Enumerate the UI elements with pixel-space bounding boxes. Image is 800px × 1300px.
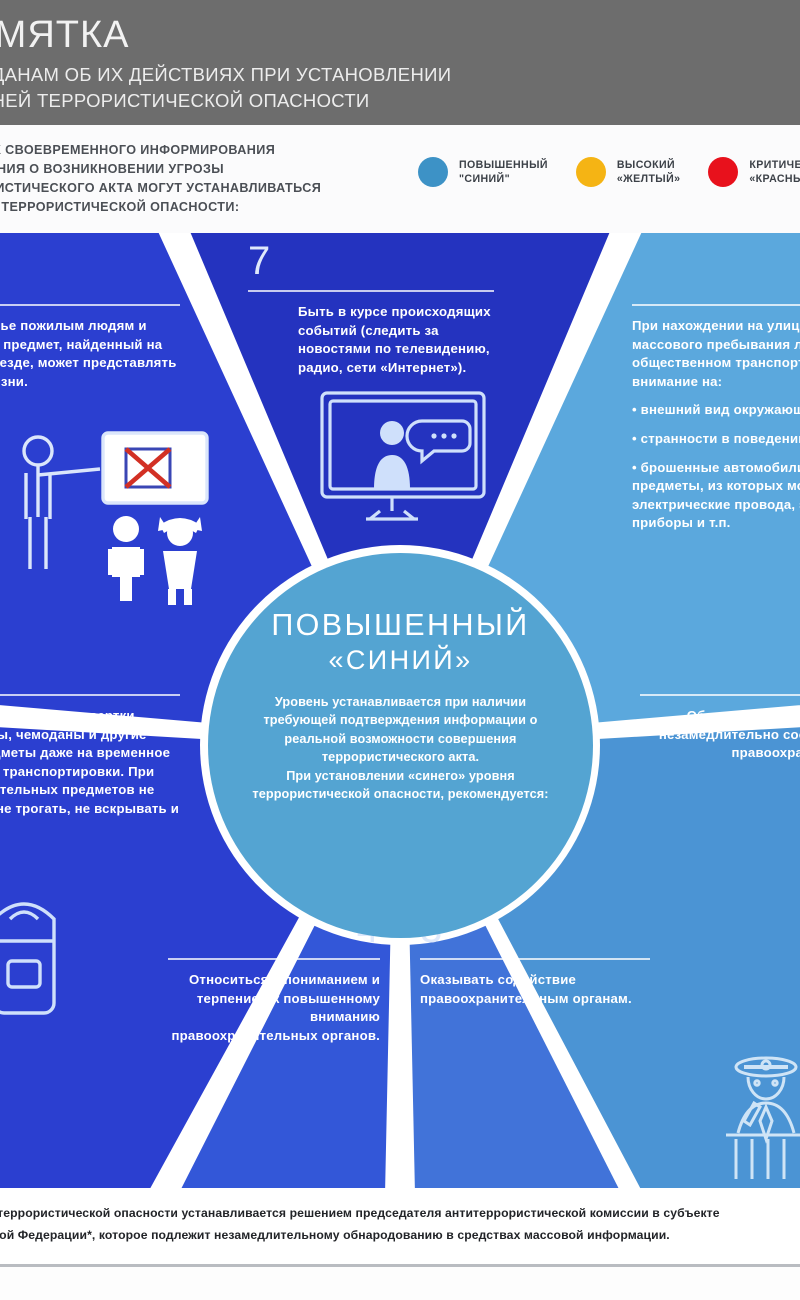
segment-1-bullet-2: • странности в поведении окружающих; [632,430,800,449]
center-description-1: Уровень устанавливается при наличии треб… [248,693,553,767]
legend-name-red: КРИТИЧЕСКИЙ [749,159,800,171]
segment-4-rule [168,958,380,960]
legend-dot-red-icon [708,157,738,187]
header-subtitle-line-2: УРОВНЕЙ ТЕРРОРИСТИЧЕСКОЙ ОПАСНОСТИ [0,90,370,112]
segment-1-intro: При нахождении на улице, в местах массов… [632,318,800,389]
segment-2-rule [640,694,800,696]
center-description-2: При установлении «синего» уровня террори… [248,767,553,804]
intro-line-3: ТЕРРОРИСТИЧЕСКОГО АКТА МОГУТ УСТАНАВЛИВА… [0,179,321,198]
segment-1-bullet-3: • брошенные автомобили, подозрительные п… [632,459,800,533]
segment-5-body-text: Не принимать от незнакомых лиц свертки, … [0,707,180,837]
segment-1-rule [632,304,800,306]
footer-text: Уровень террористической опасности устан… [0,1202,720,1246]
segment-1-bullet-1: • внешний вид окружающих; [632,401,800,420]
segment-5-rule [0,694,180,696]
segment-1-text[interactable]: При нахождении на улице, в местах массов… [632,295,800,533]
header-banner: ПАМЯТКА ГРАЖДАНАМ ОБ ИХ ДЕЙСТВИЯХ ПРИ УС… [0,0,800,125]
legend-dot-yellow-icon [576,157,606,187]
footer-line-1: Уровень террористической опасности устан… [0,1202,720,1224]
bottom-padding [0,1267,800,1300]
legend-label-yellow: ВЫСОКИЙ «ЖЕЛТЫЙ» [617,158,681,186]
intro-strip: В ЦЕЛЯХ СВОЕВРЕМЕННОГО ИНФОРМИРОВАНИЯ НА… [0,125,800,235]
center-level-color-name: «СИНИЙ» [248,643,553,677]
segment-6-body-text: Разъяснить в семье пожилым людям и детям… [0,317,180,391]
center-level-title: ПОВЫШЕННЫЙ [248,607,553,643]
header-subtitle-line-1: ГРАЖДАНАМ ОБ ИХ ДЕЙСТВИЯХ ПРИ УСТАНОВЛЕН… [0,64,451,86]
legend-item-yellow[interactable]: ВЫСОКИЙ «ЖЕЛТЫЙ» [576,157,681,187]
center-circle[interactable]: ПОВЫШЕННЫЙ «СИНИЙ» Уровень устанавливает… [208,553,593,938]
segment-2-body-text: Обо всех подозрительных ситуациях незаме… [640,707,800,763]
legend-item-red[interactable]: КРИТИЧЕСКИЙ «КРАСНЫЙ» [708,157,800,187]
segment-7-rule [248,290,494,292]
legend-quoted-red: «КРАСНЫЙ» [749,173,800,185]
legend-quoted-yellow: «ЖЕЛТЫЙ» [617,173,681,185]
segment-2-text[interactable]: Обо всех подозрительных ситуациях незаме… [640,685,800,763]
segment-3-rule [420,958,650,960]
legend-item-blue[interactable]: ПОВЫШЕННЫЙ "СИНИЙ" [418,157,548,187]
segment-6-rule [0,304,180,306]
legend-quoted-blue: "СИНИЙ" [459,173,510,185]
segment-1-body-text: При нахождении на улице, в местах массов… [632,317,800,533]
footer-line-2: Российской Федерации*, которое подлежит … [0,1224,720,1246]
legend-label-red: КРИТИЧЕСКИЙ «КРАСНЫЙ» [749,158,800,186]
segment-3-body-text: Оказывать содействие правоохранительным … [420,971,650,1008]
segment-6-text[interactable]: Разъяснить в семье пожилым людям и детям… [0,295,180,391]
intro-text: В ЦЕЛЯХ СВОЕВРЕМЕННОГО ИНФОРМИРОВАНИЯ НА… [0,141,321,217]
legend-label-blue: ПОВЫШЕННЫЙ "СИНИЙ" [459,158,548,186]
intro-line-4: УРОВНИ ТЕРРОРИСТИЧЕСКОЙ ОПАСНОСТИ: [0,198,321,217]
intro-line-2: НАСЕЛЕНИЯ О ВОЗНИКНОВЕНИИ УГРОЗЫ [0,160,321,179]
poster-root: ПАМЯТКА ГРАЖДАНАМ ОБ ИХ ДЕЙСТВИЯХ ПРИ УС… [0,0,800,1300]
segment-7-body-text: Быть в курсе происходящих событий (следи… [248,303,498,377]
legend-name-yellow: ВЫСОКИЙ [617,159,675,171]
page-title: ПАМЯТКА [0,14,129,57]
legend-name-blue: ПОВЫШЕННЫЙ [459,159,548,171]
threat-level-legend: ПОВЫШЕННЫЙ "СИНИЙ" ВЫСОКИЙ «ЖЕЛТЫЙ» КРИТ… [418,157,800,187]
footer-note: Уровень террористической опасности устан… [0,1188,800,1264]
segment-7-text[interactable]: 7 Быть в курсе происходящих событий (сле… [248,241,498,377]
threat-wheel: Разъяснить в семье пожилым людям и детям… [0,233,800,1188]
segment-4-body-text: Относиться с пониманием и терпением к по… [168,971,380,1045]
segment-5-text[interactable]: Не принимать от незнакомых лиц свертки, … [0,685,180,837]
segment-7-number: 7 [248,239,271,283]
legend-dot-blue-icon [418,157,448,187]
intro-line-1: В ЦЕЛЯХ СВОЕВРЕМЕННОГО ИНФОРМИРОВАНИЯ [0,141,321,160]
